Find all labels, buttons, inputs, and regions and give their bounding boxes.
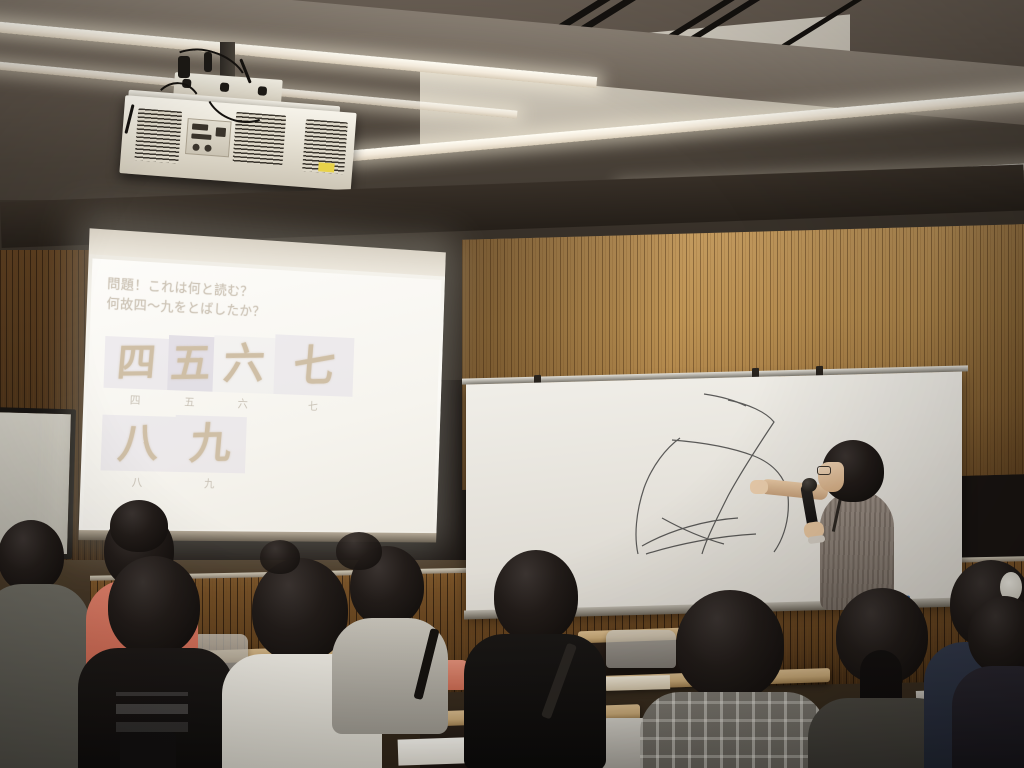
calligraphy-glyph: 七 <box>292 344 337 388</box>
calligraphy-glyph: 九 <box>188 423 233 467</box>
student-torso <box>952 666 1024 768</box>
student-head-distant <box>110 500 168 552</box>
calligraphy-grid: 四 四 五 五 六 <box>100 326 429 495</box>
glasses-icon <box>817 466 831 475</box>
calligraphy-glyph: 八 <box>116 422 160 465</box>
projector-warning-label <box>318 162 335 172</box>
calligraphy-glyph: 五 <box>169 343 212 384</box>
slide-title: 問題！これは何と読む？ 何故四〜九をとばしたか？ <box>106 275 431 330</box>
student-front-black-tee <box>76 556 236 768</box>
lecture-room-photo: 問題！これは何と読む？ 何故四〜九をとばしたか？ 四 四 五 <box>0 0 1024 768</box>
calligraphy-label: 四 <box>130 392 141 408</box>
calligraphy-image: 八 <box>101 415 176 472</box>
calligraphy-label: 八 <box>131 474 142 490</box>
student-torso-plaid <box>640 692 826 768</box>
presenter-hand <box>750 480 768 494</box>
calligraphy-glyph: 四 <box>115 343 157 383</box>
calligraphy-cell: 四 四 <box>103 336 169 409</box>
backpack <box>120 732 176 768</box>
screen-surface: 問題！これは何と読む？ 何故四〜九をとばしたか？ 四 四 五 <box>78 228 445 542</box>
student-head-distant <box>260 540 300 574</box>
student-dark-jacket <box>462 550 606 768</box>
calligraphy-cell: 六 六 <box>212 335 276 412</box>
student-grey-cardigan <box>330 546 450 726</box>
student-head <box>108 556 200 656</box>
calligraphy-row-2: 八 八 九 九 <box>100 413 427 495</box>
calligraphy-cell: 八 八 <box>100 415 176 491</box>
calligraphy-image: 六 <box>212 335 275 394</box>
student-plaid-shirt <box>640 590 826 768</box>
calligraphy-label: 五 <box>184 394 195 410</box>
presenter <box>806 440 916 610</box>
calligraphy-image: 九 <box>174 415 247 473</box>
calligraphy-cell: 七 七 <box>273 334 355 415</box>
projection-screen: 問題！これは何と読む？ 何故四〜九をとばしたか？ 四 四 五 <box>84 228 474 540</box>
calligraphy-image: 四 <box>103 336 168 390</box>
student-head <box>0 520 64 592</box>
student-head <box>968 596 1024 674</box>
calligraphy-label: 六 <box>237 396 248 412</box>
calligraphy-image: 五 <box>167 335 214 392</box>
ceiling-projector <box>112 42 372 182</box>
student-head-distant <box>336 532 382 570</box>
calligraphy-glyph: 六 <box>222 344 267 387</box>
slide-content: 問題！これは何と読む？ 何故四〜九をとばしたか？ 四 四 五 <box>83 258 442 531</box>
calligraphy-cell: 五 五 <box>166 335 214 410</box>
student-back-right <box>962 596 1024 768</box>
calligraphy-image: 七 <box>273 334 354 397</box>
calligraphy-cell: 九 九 <box>173 415 247 492</box>
student-head <box>676 590 784 700</box>
student-torso <box>464 634 606 768</box>
calligraphy-row-1: 四 四 五 五 六 <box>103 326 429 417</box>
microphone-head-icon <box>802 478 817 492</box>
student-head <box>494 550 578 642</box>
calligraphy-label: 九 <box>204 476 215 492</box>
calligraphy-label: 七 <box>308 398 318 414</box>
